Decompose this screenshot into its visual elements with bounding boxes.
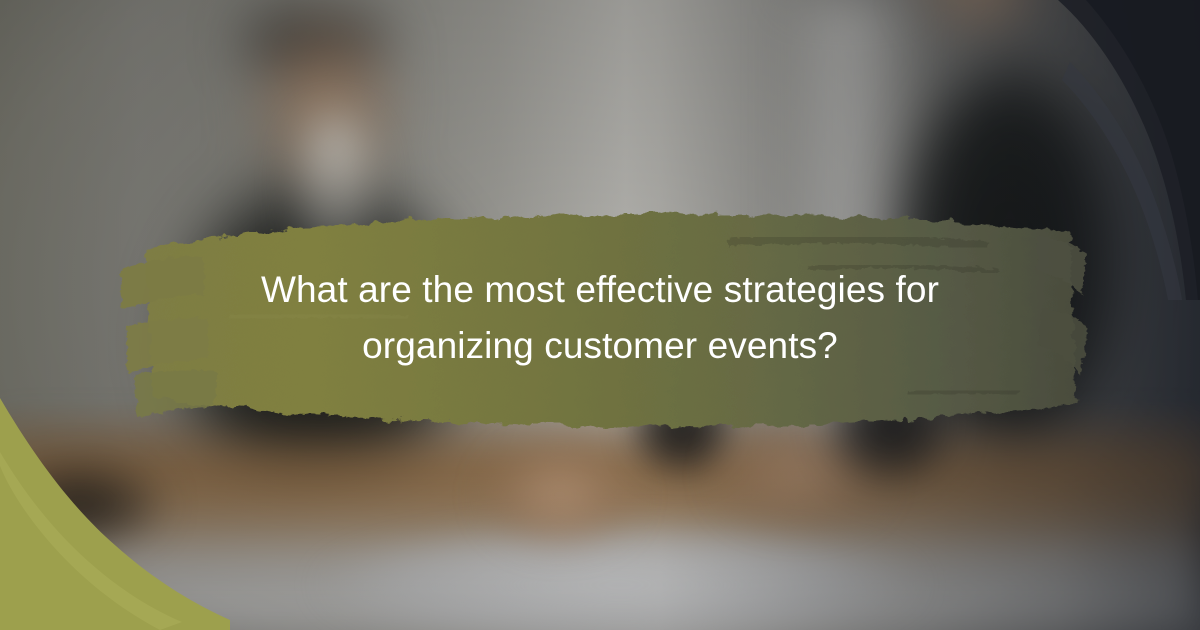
headline-text: What are the most effective strategies f…: [150, 206, 1050, 430]
headline-line-2: organizing customer events?: [362, 318, 838, 374]
quote-card: What are the most effective strategies f…: [0, 0, 1200, 630]
headline-line-1: What are the most effective strategies f…: [261, 262, 939, 318]
